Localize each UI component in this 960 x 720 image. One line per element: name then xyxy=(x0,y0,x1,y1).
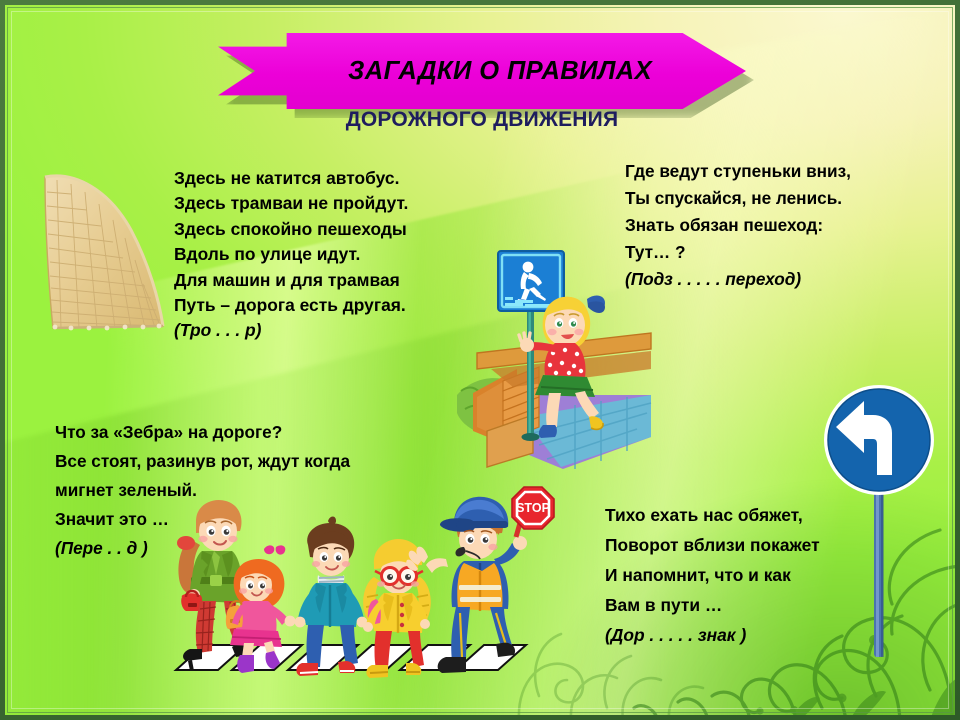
riddle-line: Что за «Зебра» на дороге? xyxy=(55,418,350,447)
riddle-answer-hint: (Тро . . . р) xyxy=(174,318,408,343)
riddle-line: И напомнит, что и как xyxy=(605,560,820,590)
riddle-line: Тут… ? xyxy=(625,239,851,266)
riddle-line: Здесь не катится автобус. xyxy=(174,166,408,191)
riddle-line: Знать обязан пешеход: xyxy=(625,212,851,239)
riddle-line: Ты спускайся, не ленись. xyxy=(625,185,851,212)
slide-canvas: ЗАГАДКИ О ПРАВИЛАХ ДОРОЖНОГО ДВИЖЕНИЯ Зд… xyxy=(0,0,960,720)
riddle-line: Здесь трамваи не пройдут. xyxy=(174,191,408,216)
riddle-answer-hint: (Дор . . . . . знак ) xyxy=(605,620,820,650)
cobblestone-sidewalk-illustration xyxy=(31,168,181,338)
riddle-line: Для машин и для трамвая xyxy=(174,268,408,293)
police-cap xyxy=(440,497,508,532)
stop-sign-label: STOP xyxy=(516,501,550,515)
title-banner: ЗАГАДКИ О ПРАВИЛАХ xyxy=(218,33,746,109)
riddle-line: Тихо ехать нас обяжет, xyxy=(605,500,820,530)
stop-sign: STOP xyxy=(512,487,554,529)
page-title: ЗАГАДКИ О ПРАВИЛАХ xyxy=(218,33,746,109)
underpass-illustration xyxy=(455,245,655,470)
riddle-answer-hint: (Подз . . . . . переход) xyxy=(625,266,851,293)
riddle-trotuar: Здесь не катится автобус. Здесь трамваи … xyxy=(174,166,408,344)
riddle-line: Путь – дорога есть другая. xyxy=(174,293,408,318)
riddle-dorozhnyy-znak: Тихо ехать нас обяжет, Поворот вблизи по… xyxy=(605,500,820,650)
riddle-line: Вам в пути … xyxy=(605,590,820,620)
riddle-line: Все стоят, разинув рот, ждут когда xyxy=(55,447,350,476)
turn-left-road-sign xyxy=(820,385,940,660)
pedestrian-crossing-scene: STOP xyxy=(168,485,568,690)
riddle-line: Поворот вблизи покажет xyxy=(605,530,820,560)
page-subtitle: ДОРОЖНОГО ДВИЖЕНИЯ xyxy=(218,108,746,132)
riddle-line: Здесь спокойно пешеходы xyxy=(174,217,408,242)
riddle-line: Вдоль по улице идут. xyxy=(174,242,408,267)
riddle-podzemnyy-perehod: Где ведут ступеньки вниз, Ты спускайся, … xyxy=(625,158,851,293)
riddle-line: Где ведут ступеньки вниз, xyxy=(625,158,851,185)
